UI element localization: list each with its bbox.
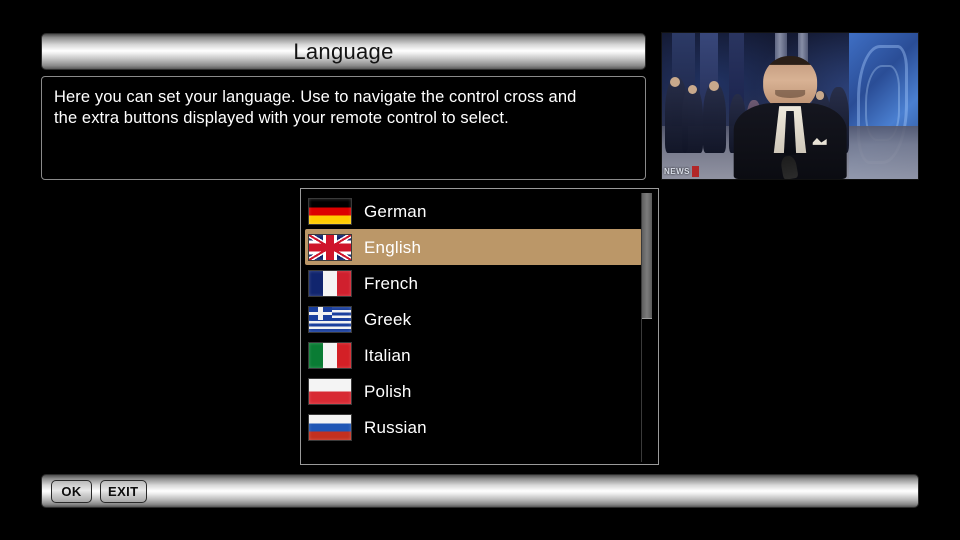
page-title: Language xyxy=(293,41,393,63)
description-text: Here you can set your language. Use to n… xyxy=(54,87,633,129)
description-panel: Here you can set your language. Use to n… xyxy=(41,76,646,180)
tv-settings-screen: Language Here you can set your language.… xyxy=(0,0,960,540)
softkey-bar: OKEXIT xyxy=(41,474,919,508)
video-frame: NEWS xyxy=(662,33,918,179)
language-list-item[interactable]: Greek xyxy=(305,301,642,337)
language-list-item-label: Italian xyxy=(364,347,411,364)
language-list-item-label: German xyxy=(364,203,427,220)
crowd-silhouette xyxy=(682,86,702,153)
greece-flag-icon xyxy=(308,306,352,333)
language-list-items: GermanEnglishFrenchGreekItalianPolishRus… xyxy=(301,189,644,464)
scrollbar-thumb[interactable] xyxy=(642,193,652,319)
channel-logo-mark xyxy=(692,166,699,177)
language-list-item[interactable]: French xyxy=(305,265,642,301)
microphone-icon xyxy=(780,155,798,180)
italy-flag-icon xyxy=(308,342,352,369)
germany-flag-icon xyxy=(308,198,352,225)
language-list-item-label: Greek xyxy=(364,311,411,328)
language-list-item[interactable]: English xyxy=(305,229,642,265)
reporter-body xyxy=(734,103,847,179)
poland-flag-icon xyxy=(308,378,352,405)
flag-diagonal-white xyxy=(309,235,351,260)
language-list-item[interactable]: Polish xyxy=(305,373,642,409)
page-title-bar: Language xyxy=(41,33,646,70)
language-list-item[interactable]: Russian xyxy=(305,409,642,445)
united-kingdom-flag-icon xyxy=(308,234,352,261)
language-list-item-label: English xyxy=(364,239,421,256)
video-preview[interactable]: NEWS xyxy=(661,32,919,180)
language-list-item[interactable]: Italian xyxy=(305,337,642,373)
language-list-item[interactable]: German xyxy=(305,193,642,229)
reporter-pocket-square xyxy=(813,138,828,145)
crowd-head xyxy=(688,85,697,94)
list-scrollbar[interactable] xyxy=(641,193,652,462)
language-list-item-label: Polish xyxy=(364,383,412,400)
channel-logo-text: NEWS xyxy=(664,167,690,176)
language-list-item-label: French xyxy=(364,275,418,292)
exit-button[interactable]: EXIT xyxy=(100,480,147,503)
language-list-item-label: Russian xyxy=(364,419,427,436)
crowd-silhouette xyxy=(703,83,726,153)
russia-flag-icon xyxy=(308,414,352,441)
language-list[interactable]: GermanEnglishFrenchGreekItalianPolishRus… xyxy=(300,188,659,465)
flag-diagonal-red xyxy=(309,235,351,260)
channel-logo: NEWS xyxy=(664,166,699,177)
france-flag-icon xyxy=(308,270,352,297)
ok-button[interactable]: OK xyxy=(51,480,92,503)
